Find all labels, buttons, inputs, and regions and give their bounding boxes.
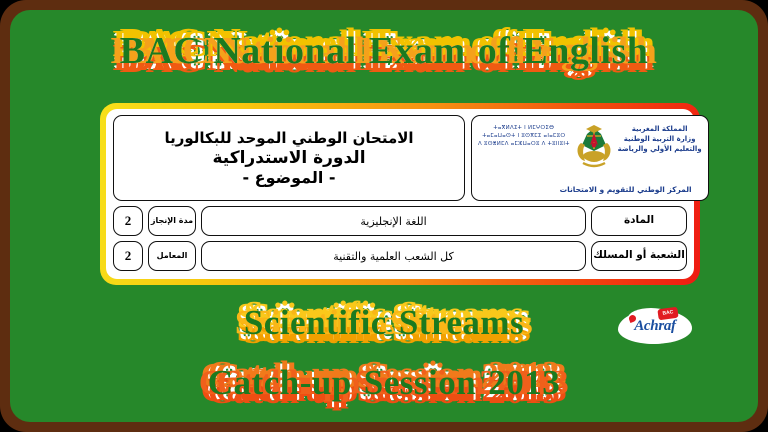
exam-title-line-1: الامتحان الوطني الموحد للبكالوريا: [164, 129, 413, 148]
exam-title-box: الامتحان الوطني الموحد للبكالوريا الدورة…: [113, 115, 465, 201]
stream-word: Scientific: [244, 305, 387, 340]
session-word: Session: [364, 365, 476, 400]
page-title: BACNationalExamofEnglish: [10, 32, 758, 70]
ministry-line: وزارة التربية الوطنية: [624, 135, 696, 143]
document-header: الامتحان الوطني الموحد للبكالوريا الدورة…: [113, 115, 687, 201]
title-word: English: [522, 32, 648, 70]
tifinagh-line: ⵜⴰⴳⵍⴷⵉⵜ ⵏ ⵍⵎⵖⵔⵉⴱ: [493, 125, 554, 131]
green-panel: BACNationalExamofEnglish الامتحان الوطني…: [10, 10, 758, 422]
row-value: كل الشعب العلمية والتقنية: [333, 250, 453, 263]
ministry-center-line: المركز الوطني للتقويم و الامتحانات: [560, 185, 692, 194]
row-meta-cell: مدة الإنجاز: [148, 206, 196, 236]
title-word: Exam: [369, 32, 466, 70]
ministry-box: ⵜⴰⴳⵍⴷⵉⵜ ⵏ ⵍⵎⵖⵔⵉⴱ ⵜⴰⵎⴰⵡⴰⵙⵜ ⵏ ⵓⵙⴳⵎⵉ ⴰⵏⴰⵎⵓⵔ…: [471, 115, 709, 201]
title-word: BAC: [120, 32, 202, 70]
tifinagh-block: ⵜⴰⴳⵍⴷⵉⵜ ⵏ ⵍⵎⵖⵔⵉⴱ ⵜⴰⵎⴰⵡⴰⵙⵜ ⵏ ⵓⵙⴳⵎⵉ ⴰⵏⴰⵎⵓⵔ…: [478, 125, 570, 147]
table-row: المادة اللغة الإنجليزية مدة الإنجاز 2: [113, 206, 687, 236]
achraf-logo-badge: BAC Achraf: [618, 306, 692, 348]
ministry-arabic-block: المملكة المغربية وزارة التربية الوطنية و…: [618, 125, 702, 153]
exam-title-line-3: - الموضوع -: [242, 168, 335, 187]
row-label-cell: المادة: [591, 206, 687, 236]
title-word: of: [478, 32, 511, 70]
row-number: 2: [125, 248, 132, 264]
row-meta: المعامل: [157, 252, 188, 260]
badge-name: Achraf: [618, 318, 692, 335]
exam-document-sheet: الامتحان الوطني الموحد للبكالوريا الدورة…: [106, 109, 694, 279]
row-label: الشعبة أو المسلك: [593, 250, 685, 261]
stream-word: Streams: [399, 305, 524, 340]
session-word: 2013: [488, 365, 560, 400]
row-value-cell: كل الشعب العلمية والتقنية: [201, 241, 586, 271]
exam-document-card: الامتحان الوطني الموحد للبكالوريا الدورة…: [100, 103, 700, 285]
session-word: Catch-up: [208, 365, 352, 400]
tifinagh-line: ⵜⴰⵎⴰⵡⴰⵙⵜ ⵏ ⵓⵙⴳⵎⵉ ⴰⵏⴰⵎⵓⵔ: [482, 133, 565, 139]
exam-title-line-2: الدورة الاستدراكية: [212, 148, 365, 168]
ministry-line: المملكة المغربية: [632, 125, 688, 133]
row-value: اللغة الإنجليزية: [360, 215, 426, 228]
row-number-cell: 2: [113, 241, 143, 271]
row-label-cell: الشعبة أو المسلك: [591, 241, 687, 271]
session-heading: Catch-upSession2013: [10, 365, 758, 400]
row-meta: مدة الإنجاز: [151, 217, 193, 225]
row-number: 2: [125, 213, 132, 229]
row-meta-cell: المعامل: [148, 241, 196, 271]
row-value-cell: اللغة الإنجليزية: [201, 206, 586, 236]
row-label: المادة: [624, 215, 654, 226]
tifinagh-line: ⴷ ⵓⵙⴻⵍⵎⴷ ⴰⵎⵣⵡⴰⵔⵓ ⴷ ⵜⵓⵏⵏⵓⵏⵜ: [478, 141, 570, 147]
table-row: الشعبة أو المسلك كل الشعب العلمية والتقن…: [113, 241, 687, 271]
poster-root: BACNationalExamofEnglish الامتحان الوطني…: [0, 0, 768, 432]
title-word: National: [213, 32, 356, 70]
ministry-line: والتعليم الأولي والرياضة: [618, 145, 702, 153]
row-number-cell: 2: [113, 206, 143, 236]
morocco-coat-of-arms-icon: [572, 125, 616, 171]
